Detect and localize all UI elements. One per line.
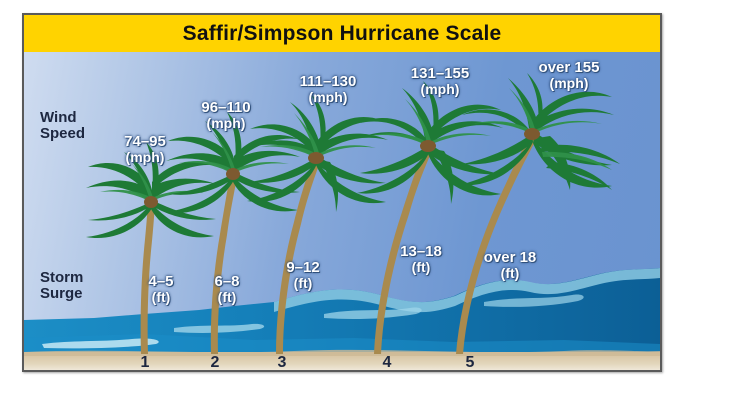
wind-value-3: 111–130 (mph) — [276, 74, 380, 105]
page-title: Saffir/Simpson Hurricane Scale — [183, 22, 502, 46]
surge-value-1: 4–5 (ft) — [130, 274, 192, 305]
surge-value-5: over 18 (ft) — [464, 250, 556, 281]
surge-value-3: 9–12 (ft) — [268, 260, 338, 291]
wind-value-2: 96–110 (mph) — [176, 100, 276, 131]
category-number-4: 4 — [372, 354, 402, 371]
wind-value-5: over 155 (mph) — [514, 60, 624, 91]
storm-surge-axis-label: Storm Surge — [40, 270, 83, 302]
category-number-2: 2 — [200, 354, 230, 371]
category-number-1: 1 — [130, 354, 160, 371]
wind-value-1: 74–95 (mph) — [102, 134, 188, 165]
wind-value-4: 131–155 (mph) — [388, 66, 492, 97]
hurricane-scale-figure: Saffir/Simpson Hurricane Scale — [22, 13, 662, 372]
ocean — [24, 268, 660, 354]
surge-value-2: 6–8 (ft) — [196, 274, 258, 305]
category-number-3: 3 — [267, 354, 297, 371]
wind-speed-axis-label: Wind Speed — [40, 110, 85, 142]
illustration-scene: Wind Speed Storm Surge 74–95 (mph) 96–11… — [24, 52, 660, 372]
title-bar: Saffir/Simpson Hurricane Scale — [24, 15, 660, 52]
category-number-5: 5 — [455, 354, 485, 371]
surge-value-4: 13–18 (ft) — [382, 244, 460, 275]
